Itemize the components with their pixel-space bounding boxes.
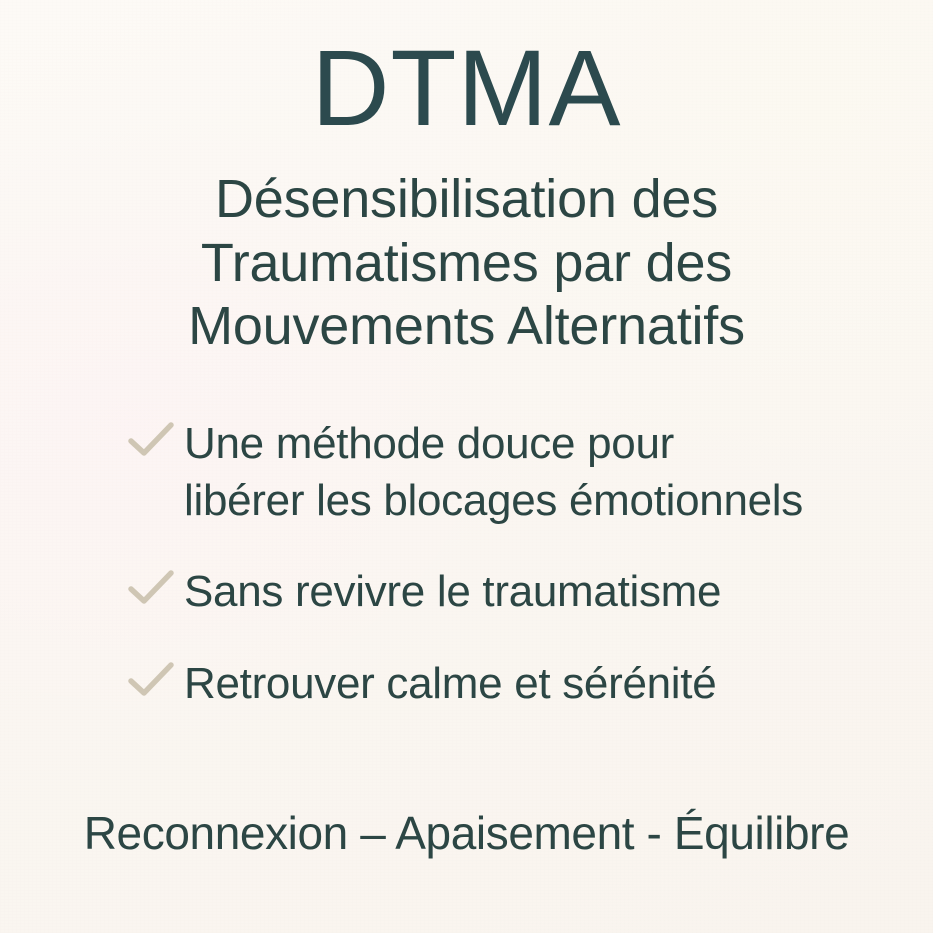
list-item: Retrouver calme et sérénité [128, 655, 888, 712]
list-item: Sans revivre le traumatisme [128, 563, 888, 620]
list-item-label: Sans revivre le traumatisme [184, 563, 804, 620]
check-icon [128, 563, 184, 607]
page-title: DTMA [0, 34, 933, 142]
list-item-label: Retrouver calme et sérénité [184, 655, 804, 712]
list-item-label: Une méthode douce pour libérer les bloca… [184, 415, 804, 529]
tagline: Reconnexion – Apaisement - Équilibre [0, 806, 933, 861]
poster-canvas: DTMA Désensibilisation des Traumatismes … [0, 0, 933, 933]
list-item: Une méthode douce pour libérer les bloca… [128, 415, 888, 529]
subtitle-line-3: Mouvements Alternatifs [0, 295, 933, 359]
poster-content: DTMA Désensibilisation des Traumatismes … [0, 0, 933, 933]
benefits-list: Une méthode douce pour libérer les bloca… [128, 415, 888, 712]
subtitle-block: Désensibilisation des Traumatismes par d… [0, 168, 933, 359]
check-icon [128, 655, 184, 699]
subtitle-line-2: Traumatismes par des [0, 232, 933, 296]
check-icon [128, 415, 184, 459]
subtitle-line-1: Désensibilisation des [0, 168, 933, 232]
